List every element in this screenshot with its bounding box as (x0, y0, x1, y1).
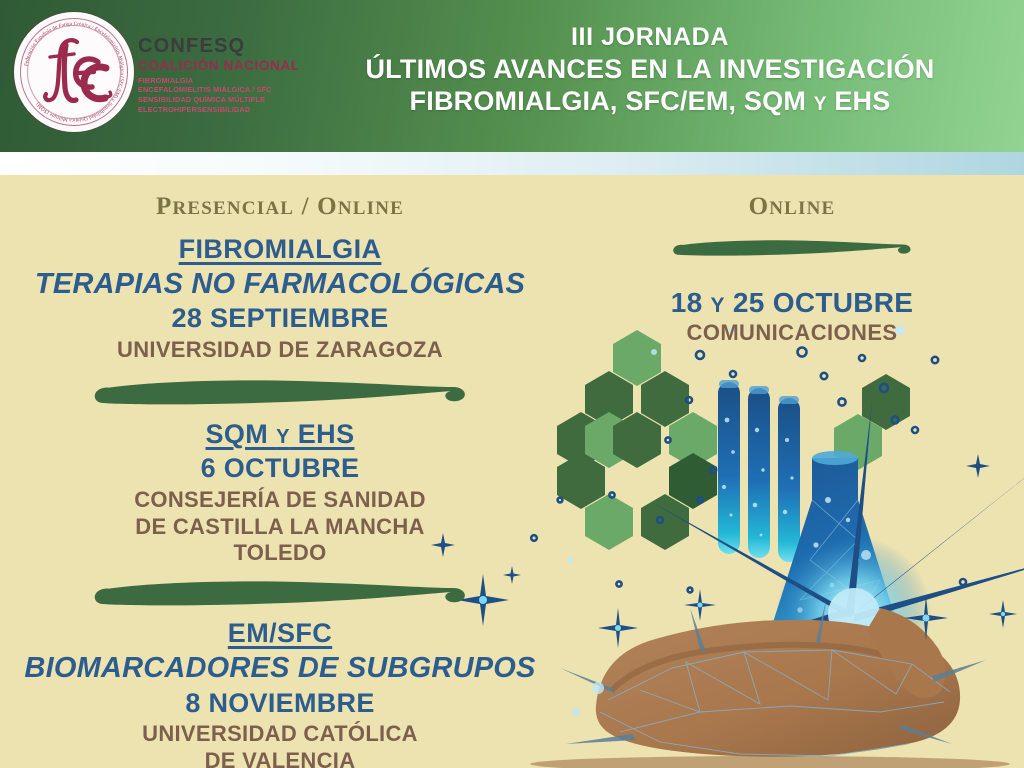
title-line-3-part-b: EHS (827, 86, 891, 116)
session-venue: TOLEDO (0, 540, 560, 566)
online-date-b: 25 OCTUBRE (725, 287, 913, 318)
session-topic-conjunction: Y (276, 426, 290, 448)
session-topic: EM/SFC (0, 618, 560, 650)
flourish-divider-icon (667, 229, 917, 269)
session-subtitle: BIOMARCADORES DE SUBGRUPOS (0, 652, 560, 685)
title-line-1: III JORNADA (300, 22, 1000, 53)
online-subtitle: COMUNICACIONES (560, 320, 1024, 346)
left-mode-label: PRESENCIAL / ONLINE (0, 193, 560, 221)
poster-body: PRESENCIAL / ONLINE FIBROMIALGIA TERAPIA… (0, 175, 1024, 768)
logo-monogram-icon (14, 12, 134, 132)
flourish-divider-icon (85, 574, 475, 616)
session-venue: UNIVERSIDAD DE ZARAGOZA (0, 337, 560, 363)
poster-title: III JORNADA ÚLTIMOS AVANCES EN LA INVEST… (300, 22, 1000, 118)
session-venue: DE CASTILLA LA MANCHA (0, 514, 560, 540)
online-date-conjunction: Y (711, 294, 725, 317)
left-mode-label-slash: / (294, 193, 317, 220)
flourish-divider-icon (85, 373, 475, 415)
header-divider-strip (0, 152, 1024, 175)
session-topic-a: SQM (206, 419, 277, 449)
confesq-logo: Federación Española de Fatiga Crónica / … (14, 12, 134, 132)
title-line-3-part-a: FIBROMIALGIA, SFC/EM, SQM (410, 86, 814, 116)
session-venue: DE VALENCIA (0, 748, 560, 768)
session-date: 28 SEPTIEMBRE (0, 303, 560, 335)
right-column: ONLINE 18 Y 25 OCTUBRE COMUNICACIONES (560, 175, 1024, 768)
left-mode-label-b: RESENCIAL (172, 198, 294, 219)
session-block-em-sfc: EM/SFC BIOMARCADORES DE SUBGRUPOS 8 NOVI… (0, 618, 560, 768)
right-mode-label: ONLINE (560, 193, 1024, 221)
session-subtitle: TERAPIAS NO FARMACOLÓGICAS (0, 268, 560, 301)
title-line-3: FIBROMIALGIA, SFC/EM, SQM Y EHS (300, 85, 1000, 118)
online-date-a: 18 (671, 287, 711, 318)
session-block-sqm-ehs: SQM Y EHS 6 OCTUBRE CONSEJERÍA DE SANIDA… (0, 419, 560, 566)
title-line-2: ÚLTIMOS AVANCES EN LA INVESTIGACIÓN (300, 53, 1000, 86)
session-date: 6 OCTUBRE (0, 453, 560, 485)
session-block-fibromialgia: FIBROMIALGIA TERAPIAS NO FARMACOLÓGICAS … (0, 234, 560, 363)
left-mode-label-a: P (156, 193, 172, 220)
left-mode-label-d: NLINE (338, 198, 404, 219)
session-topic: SQM Y EHS (0, 419, 560, 451)
left-mode-label-c: O (317, 193, 338, 220)
poster-root: Federación Española de Fatiga Crónica / … (0, 0, 1024, 768)
session-date: 8 NOVIEMBRE (0, 688, 560, 720)
session-venue: UNIVERSIDAD CATÓLICA (0, 721, 560, 747)
online-date: 18 Y 25 OCTUBRE (560, 287, 1024, 319)
session-topic-b: EHS (290, 419, 355, 449)
poster-header: Federación Española de Fatiga Crónica / … (0, 0, 1024, 152)
title-line-3-conjunction: Y (814, 94, 827, 115)
right-mode-label-a: O (749, 193, 770, 220)
left-column: PRESENCIAL / ONLINE FIBROMIALGIA TERAPIA… (0, 175, 560, 768)
session-venue: CONSEJERÍA DE SANIDAD (0, 487, 560, 513)
session-topic: FIBROMIALGIA (0, 234, 560, 266)
right-mode-label-b: NLINE (769, 198, 835, 219)
